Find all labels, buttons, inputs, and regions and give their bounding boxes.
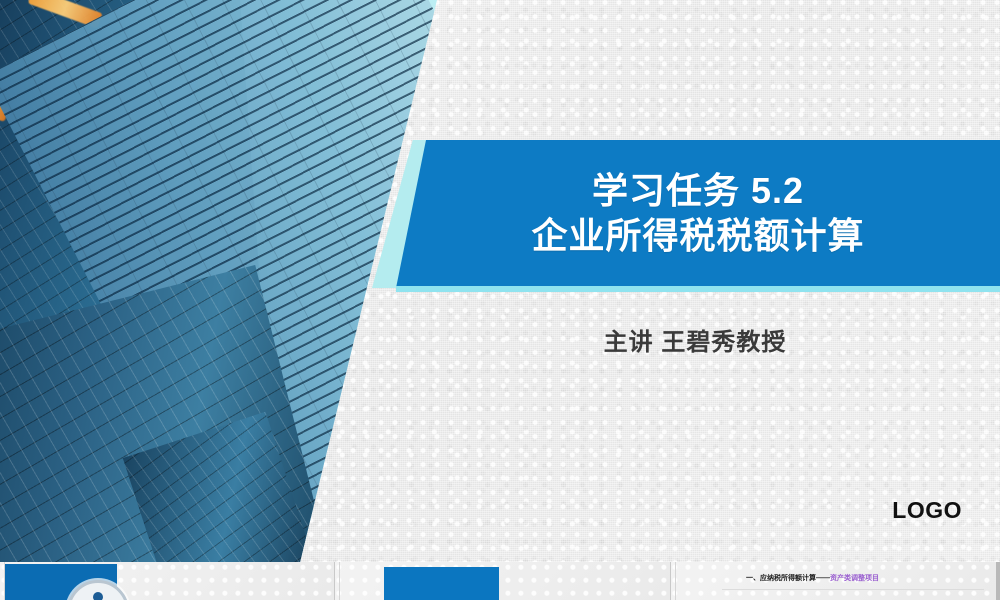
presentation-window: 学习任务 5.2 企业所得税税额计算 主讲 王碧秀教授 LOGO 一、应 (0, 0, 1000, 600)
presenter-name: 主讲 王碧秀教授 (430, 322, 960, 357)
thumbnail-scrollbar[interactable] (996, 562, 1000, 600)
logo-text: LOGO (892, 497, 962, 524)
slide-canvas[interactable]: 学习任务 5.2 企业所得税税额计算 主讲 王碧秀教授 LOGO (0, 0, 1000, 562)
title-banner: 学习任务 5.2 企业所得税税额计算 (396, 140, 1000, 288)
page-title-line-1: 学习任务 5.2 (592, 169, 804, 213)
slide-thumbnail-1[interactable] (0, 562, 335, 600)
slide-thumbnail-strip: 一、应纳税所得额计算——资产类调整项目 (0, 562, 1000, 600)
slide-thumbnail-3[interactable]: 一、应纳税所得额计算——资产类调整项目 (671, 562, 1000, 600)
slide-thumbnail-3-heading-accent: 资产类调整项目 (830, 575, 879, 582)
slide-thumbnail-3-inner: 一、应纳税所得额计算——资产类调整项目 (675, 562, 1000, 600)
slide-thumbnail-1-inner (4, 562, 334, 600)
title-banner-underline (396, 286, 1000, 292)
slide-thumbnail-3-divider (722, 589, 984, 590)
slide-thumbnail-3-heading: 一、应纳税所得额计算——资产类调整项目 (746, 573, 879, 583)
slide-thumbnail-2[interactable] (335, 562, 671, 600)
page-title-line-2: 企业所得税税额计算 (531, 213, 864, 259)
person-glyph-icon (93, 592, 103, 600)
slide-thumbnail-3-heading-main: 一、应纳税所得额计算—— (746, 575, 830, 582)
blue-block-icon (384, 567, 499, 600)
slide-thumbnail-2-inner (339, 562, 670, 600)
